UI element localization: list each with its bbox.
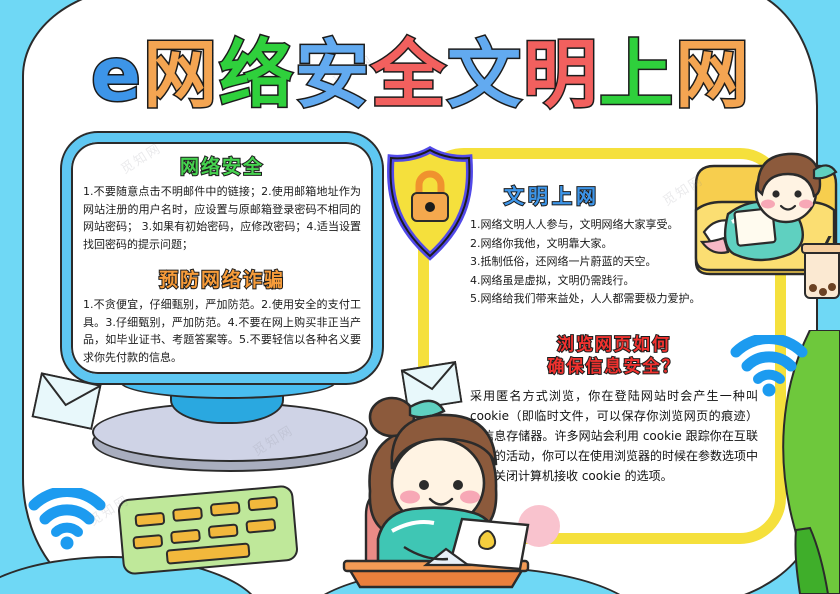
title-char-5: 文 xyxy=(447,34,521,116)
title-char-0: e xyxy=(91,34,141,116)
network-safety-body: 1.不要随意点击不明邮件中的链接；2.使用邮箱地址作为网站注册的用户名时，应设置… xyxy=(81,183,363,253)
network-safety-heading: 网络安全 xyxy=(81,152,363,179)
fraud-prevention-heading: 预防网络诈骗 xyxy=(81,265,363,292)
title-char-1: 网 xyxy=(143,34,217,116)
fraud-prevention-body: 1.不贪便宜，仔细甄别，严加防范。2.使用安全的支付工具。3.仔细甄别，严加防范… xyxy=(81,296,363,366)
browsing-security-heading: 浏览网页如何 确保信息安全？ xyxy=(470,334,758,378)
browsing-security-heading-line2: 确保信息安全？ xyxy=(470,356,758,378)
bubble-tea-icon xyxy=(800,236,840,309)
title-char-3: 安 xyxy=(295,34,369,116)
shield-lock-icon xyxy=(382,146,478,267)
girl-with-laptop-illustration xyxy=(330,395,540,594)
civilized-internet-item: 5.网络给我们带来益处，人人都需要极力爱护。 xyxy=(470,290,770,309)
wifi-icon xyxy=(28,488,106,555)
title-char-6: 明 xyxy=(523,34,597,116)
poster-canvas: e网络安全文明上网 网络安全 1.不要随意点击不明邮件中的链接；2.使用邮箱地址… xyxy=(0,0,840,594)
title-char-8: 网 xyxy=(675,34,749,116)
monitor-screen-panel: 网络安全 1.不要随意点击不明邮件中的链接；2.使用邮箱地址作为网站注册的用户名… xyxy=(62,133,382,383)
poster-title: e网络安全文明上网 xyxy=(0,34,840,116)
title-char-2: 络 xyxy=(219,34,293,116)
browsing-security-heading-line1: 浏览网页如何 xyxy=(470,334,758,356)
wifi-icon xyxy=(730,335,808,402)
title-char-4: 全 xyxy=(371,34,445,116)
keyboard-icon xyxy=(117,484,299,575)
title-char-7: 上 xyxy=(599,34,673,116)
